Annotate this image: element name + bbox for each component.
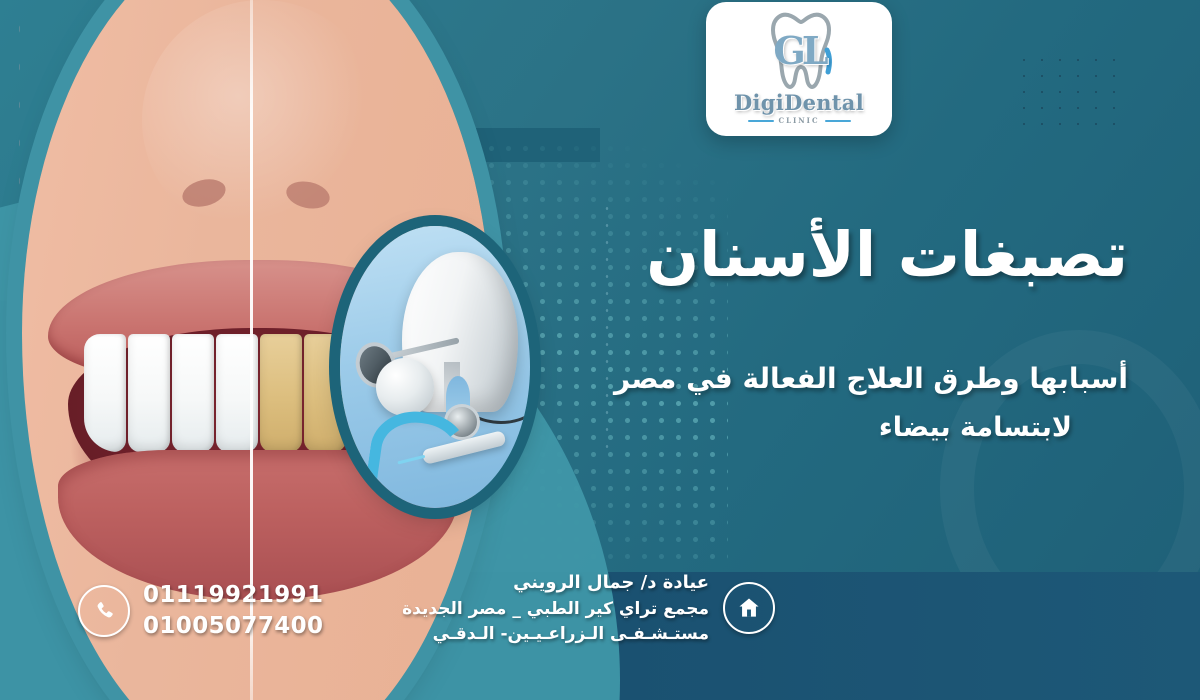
logo-tagline-row: CLINIC xyxy=(748,116,851,125)
dental-ball-tool xyxy=(376,358,434,416)
address-group: عيادة د/ جمال الرويني مجمع تراي كير الطب… xyxy=(402,570,775,647)
tooth-white xyxy=(84,334,126,452)
tooth-white xyxy=(172,334,214,452)
phone-number-2[interactable]: 01005077400 xyxy=(143,611,323,642)
logo-tooth-mark: GL xyxy=(739,8,859,92)
address-lines: عيادة د/ جمال الرويني مجمع تراي كير الطب… xyxy=(402,570,709,647)
page-title: تصبغات الأسنان xyxy=(568,222,1128,287)
contact-bar: عيادة د/ جمال الرويني مجمع تراي كير الطب… xyxy=(0,570,1200,666)
logo-wordmark: DigiDental xyxy=(734,92,864,113)
phone-number-1[interactable]: 01119921991 xyxy=(143,580,323,611)
tooth-white xyxy=(128,334,170,452)
phone-lines: 01119921991 01005077400 xyxy=(143,580,323,642)
home-icon xyxy=(723,582,775,634)
logo-rule-right xyxy=(748,120,774,122)
address-line-1: عيادة د/ جمال الرويني xyxy=(402,570,709,597)
logo-rule-left xyxy=(825,120,851,122)
phone-icon xyxy=(78,585,130,637)
clinic-logo[interactable]: GL DigiDental CLINIC xyxy=(706,2,892,136)
address-line-3: مستـشـفـى الـزراعـيـين- الـدقـي xyxy=(402,622,709,647)
tooth-stained xyxy=(260,334,302,452)
dental-tools-inset xyxy=(340,226,530,508)
subtitle-line-1: أسبابها وطرق العلاج الفعالة في مصر xyxy=(568,362,1128,395)
poster-canvas: GL DigiDental CLINIC تصبغات الأسنان أسبا… xyxy=(0,0,1200,700)
subtitle-line-2: لابتسامة بيضاء xyxy=(572,412,1072,443)
phone-group[interactable]: 01119921991 01005077400 xyxy=(78,580,323,642)
address-line-2: مجمع تراي كير الطبي _ مصر الجديدة xyxy=(402,597,709,622)
decorative-dot-grid-topright xyxy=(1015,52,1125,130)
logo-tagline: CLINIC xyxy=(779,116,820,125)
logo-monogram: GL xyxy=(739,28,859,73)
nose-highlight xyxy=(142,0,382,240)
